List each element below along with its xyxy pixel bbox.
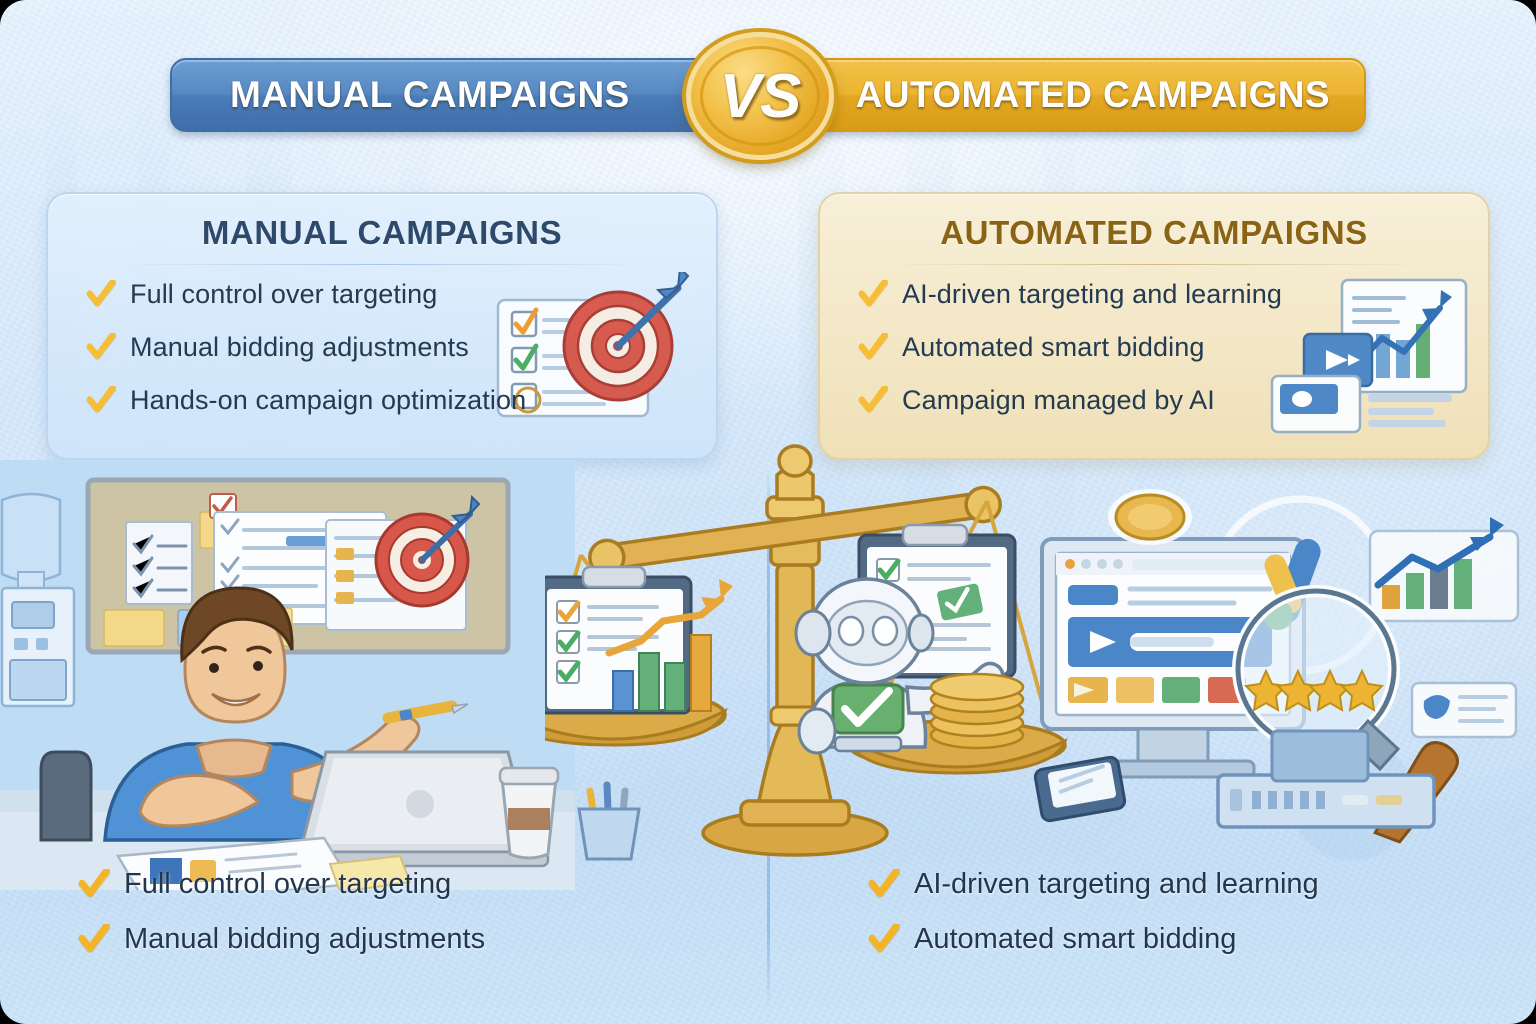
coin-stack-icon bbox=[931, 674, 1023, 748]
list-item: Automated smart bidding bbox=[858, 332, 1462, 363]
automated-card-divider bbox=[883, 264, 1425, 265]
list-item: Full control over targeting bbox=[78, 868, 485, 901]
check-icon bbox=[78, 924, 110, 956]
header-left-label: MANUAL CAMPAIGNS bbox=[230, 74, 630, 116]
coin-icon bbox=[1108, 489, 1192, 545]
server-box-icon bbox=[1218, 731, 1434, 827]
check-icon bbox=[868, 869, 900, 901]
check-icon bbox=[86, 280, 116, 310]
list-item: Hands-on campaign optimization bbox=[86, 385, 690, 416]
list-item: AI-driven targeting and learning bbox=[868, 868, 1319, 901]
manual-card-list: Full control over targeting Manual biddi… bbox=[74, 279, 690, 416]
footer-right-label: Automated smart bidding bbox=[914, 923, 1236, 956]
ads-dashboard-magnifier-scene bbox=[1020, 475, 1536, 875]
check-icon bbox=[858, 333, 888, 363]
list-item: Automated smart bidding bbox=[868, 923, 1319, 956]
header-left-bar: MANUAL CAMPAIGNS bbox=[170, 58, 726, 132]
header-right-label: AUTOMATED CAMPAIGNS bbox=[856, 74, 1330, 116]
check-icon bbox=[858, 386, 888, 416]
cork-board bbox=[88, 480, 508, 652]
header-right-bar: AUTOMATED CAMPAIGNS bbox=[810, 58, 1366, 132]
vs-coin-badge: VS bbox=[686, 32, 834, 160]
check-icon bbox=[86, 386, 116, 416]
phone-icon bbox=[1034, 756, 1126, 822]
growth-chart-card bbox=[1370, 517, 1518, 621]
footer-left-label: Full control over targeting bbox=[124, 868, 451, 901]
automated-item-label: Automated smart bidding bbox=[902, 332, 1204, 363]
list-item: AI-driven targeting and learning bbox=[858, 279, 1462, 310]
footer-left-label: Manual bidding adjustments bbox=[124, 923, 485, 956]
footer-right-label: AI-driven targeting and learning bbox=[914, 868, 1319, 901]
vs-label: VS bbox=[720, 61, 801, 132]
illustration-stage bbox=[0, 455, 1536, 895]
automated-card-list: AI-driven targeting and learning Automat… bbox=[846, 279, 1462, 416]
list-item: Manual bidding adjustments bbox=[86, 332, 690, 363]
list-item: Full control over targeting bbox=[86, 279, 690, 310]
manual-card-title: MANUAL CAMPAIGNS bbox=[74, 214, 690, 264]
check-icon bbox=[78, 869, 110, 901]
marketer-at-laptop-scene bbox=[0, 460, 575, 890]
balance-scale-scene bbox=[545, 435, 1075, 865]
chat-card-icon bbox=[1412, 683, 1516, 737]
footer-left-list: Full control over targeting Manual biddi… bbox=[78, 868, 485, 978]
manual-campaigns-card: MANUAL CAMPAIGNS Full control over targe… bbox=[46, 192, 718, 460]
manual-item-label: Full control over targeting bbox=[130, 279, 437, 310]
pencil-cup-icon bbox=[579, 785, 639, 859]
manual-item-label: Manual bidding adjustments bbox=[130, 332, 469, 363]
list-item: Manual bidding adjustments bbox=[78, 923, 485, 956]
left-pan bbox=[545, 555, 733, 745]
footer-right-list: AI-driven targeting and learning Automat… bbox=[868, 868, 1319, 978]
manual-card-divider bbox=[111, 264, 653, 265]
automated-item-label: Campaign managed by AI bbox=[902, 385, 1215, 416]
list-item: Campaign managed by AI bbox=[858, 385, 1462, 416]
automated-card-title: AUTOMATED CAMPAIGNS bbox=[846, 214, 1462, 264]
automated-item-label: AI-driven targeting and learning bbox=[902, 279, 1282, 310]
infographic-poster: MANUAL CAMPAIGNS AUTOMATED CAMPAIGNS VS … bbox=[0, 0, 1536, 1024]
check-icon bbox=[86, 333, 116, 363]
automated-campaigns-card: AUTOMATED CAMPAIGNS AI-driven targeting … bbox=[818, 192, 1490, 460]
manual-item-label: Hands-on campaign optimization bbox=[130, 385, 526, 416]
check-icon bbox=[868, 924, 900, 956]
check-icon bbox=[858, 280, 888, 310]
footer-captions: Full control over targeting Manual biddi… bbox=[0, 868, 1536, 998]
header-banner: MANUAL CAMPAIGNS AUTOMATED CAMPAIGNS VS bbox=[0, 58, 1536, 144]
